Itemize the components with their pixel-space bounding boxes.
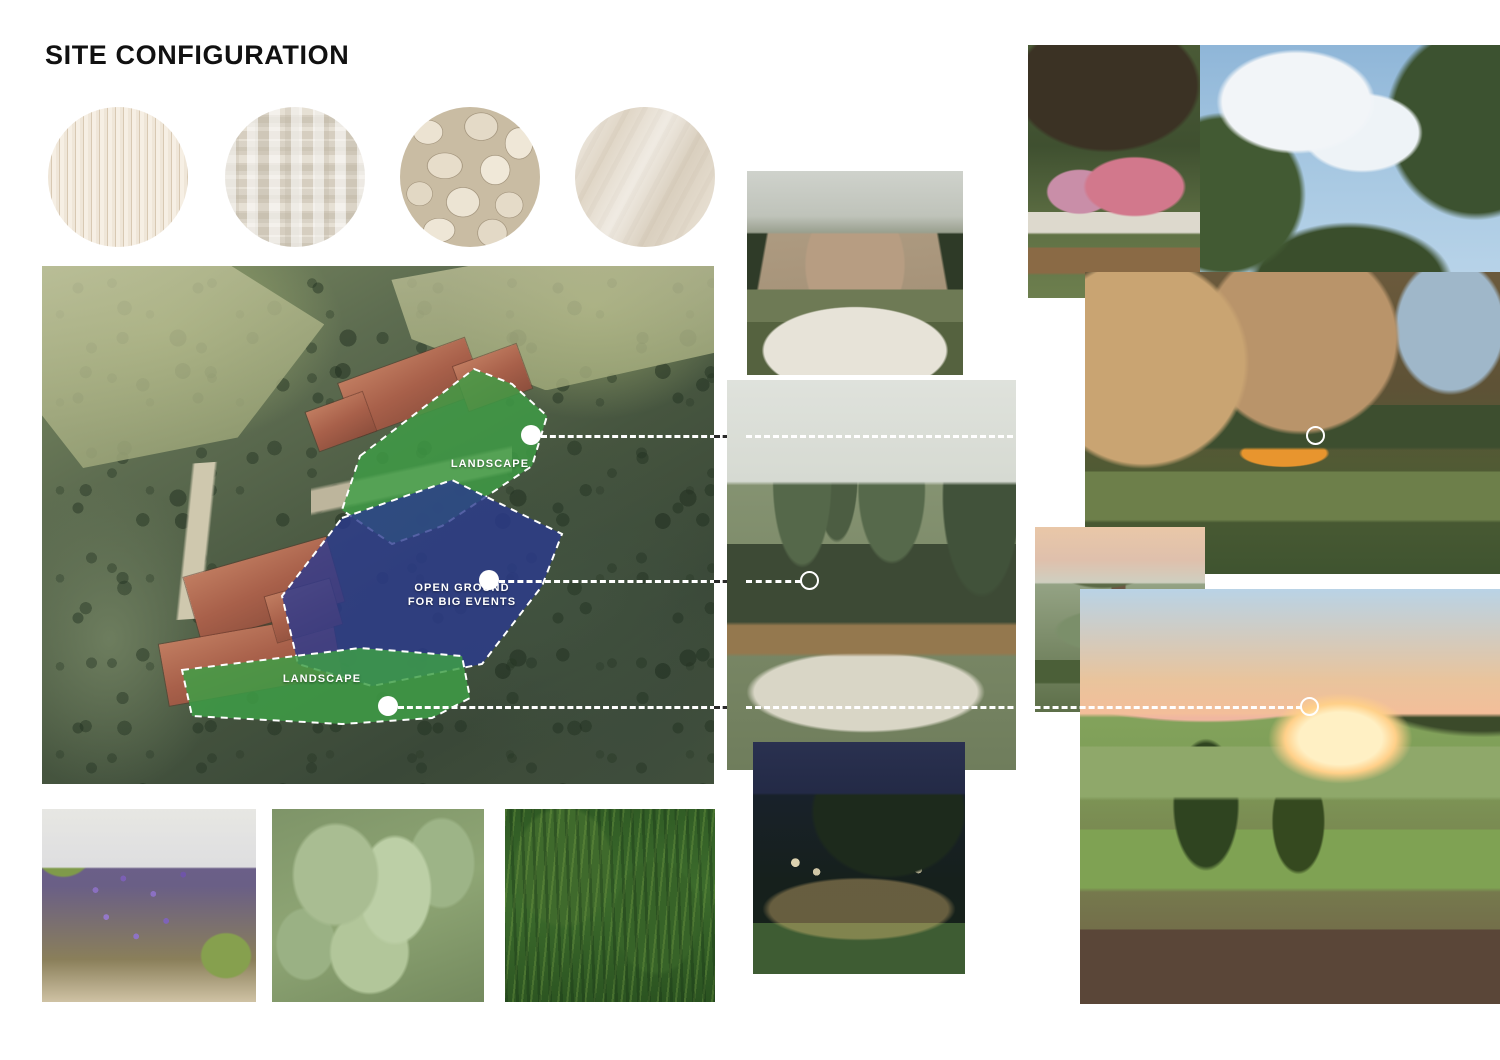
callout-dot-1[interactable] [521, 425, 541, 445]
presentation-board: SITE CONFIGURATION LANDSCAPE OPEN GROUND… [0, 0, 1500, 1060]
page-title: SITE CONFIGURATION [45, 40, 349, 71]
rosemary-planting-photo[interactable] [505, 809, 715, 1002]
sunset-valley-lawn-photo[interactable] [1080, 589, 1500, 1004]
fluted-timber-swatch [48, 107, 188, 247]
zone-landscape-lower[interactable] [182, 648, 470, 724]
callout-ring-3[interactable] [1300, 697, 1319, 716]
callout-dot-3[interactable] [378, 696, 398, 716]
night-chandelier-garden-photo[interactable] [753, 742, 965, 974]
flagstone-swatch [400, 107, 540, 247]
callout-dot-2[interactable] [479, 570, 499, 590]
leader-line-1-plan [541, 435, 714, 438]
tree-canopy-sky-photo[interactable] [1200, 45, 1500, 303]
travertine-swatch [575, 107, 715, 247]
stone-villa-banquet-photo[interactable] [747, 171, 963, 375]
leader-line-3-plan [398, 706, 714, 709]
leader-line-3-photo [746, 706, 1302, 709]
leader-line-2-plan [499, 580, 714, 583]
sage-planting-photo[interactable] [272, 809, 484, 1002]
lavender-planting-photo[interactable] [42, 809, 256, 1002]
mosaic-stone-swatch [225, 107, 365, 247]
callout-ring-1[interactable] [1306, 426, 1325, 445]
leader-line-1-photo [746, 435, 1076, 438]
ceremony-lawn-photo[interactable] [727, 380, 1016, 770]
leader-line-2-photo [746, 580, 801, 583]
aerial-site-plan: LANDSCAPE OPEN GROUND FOR BIG EVENTS LAN… [42, 266, 714, 784]
string-light-dining-photo[interactable] [1028, 45, 1200, 298]
callout-ring-2[interactable] [800, 571, 819, 590]
